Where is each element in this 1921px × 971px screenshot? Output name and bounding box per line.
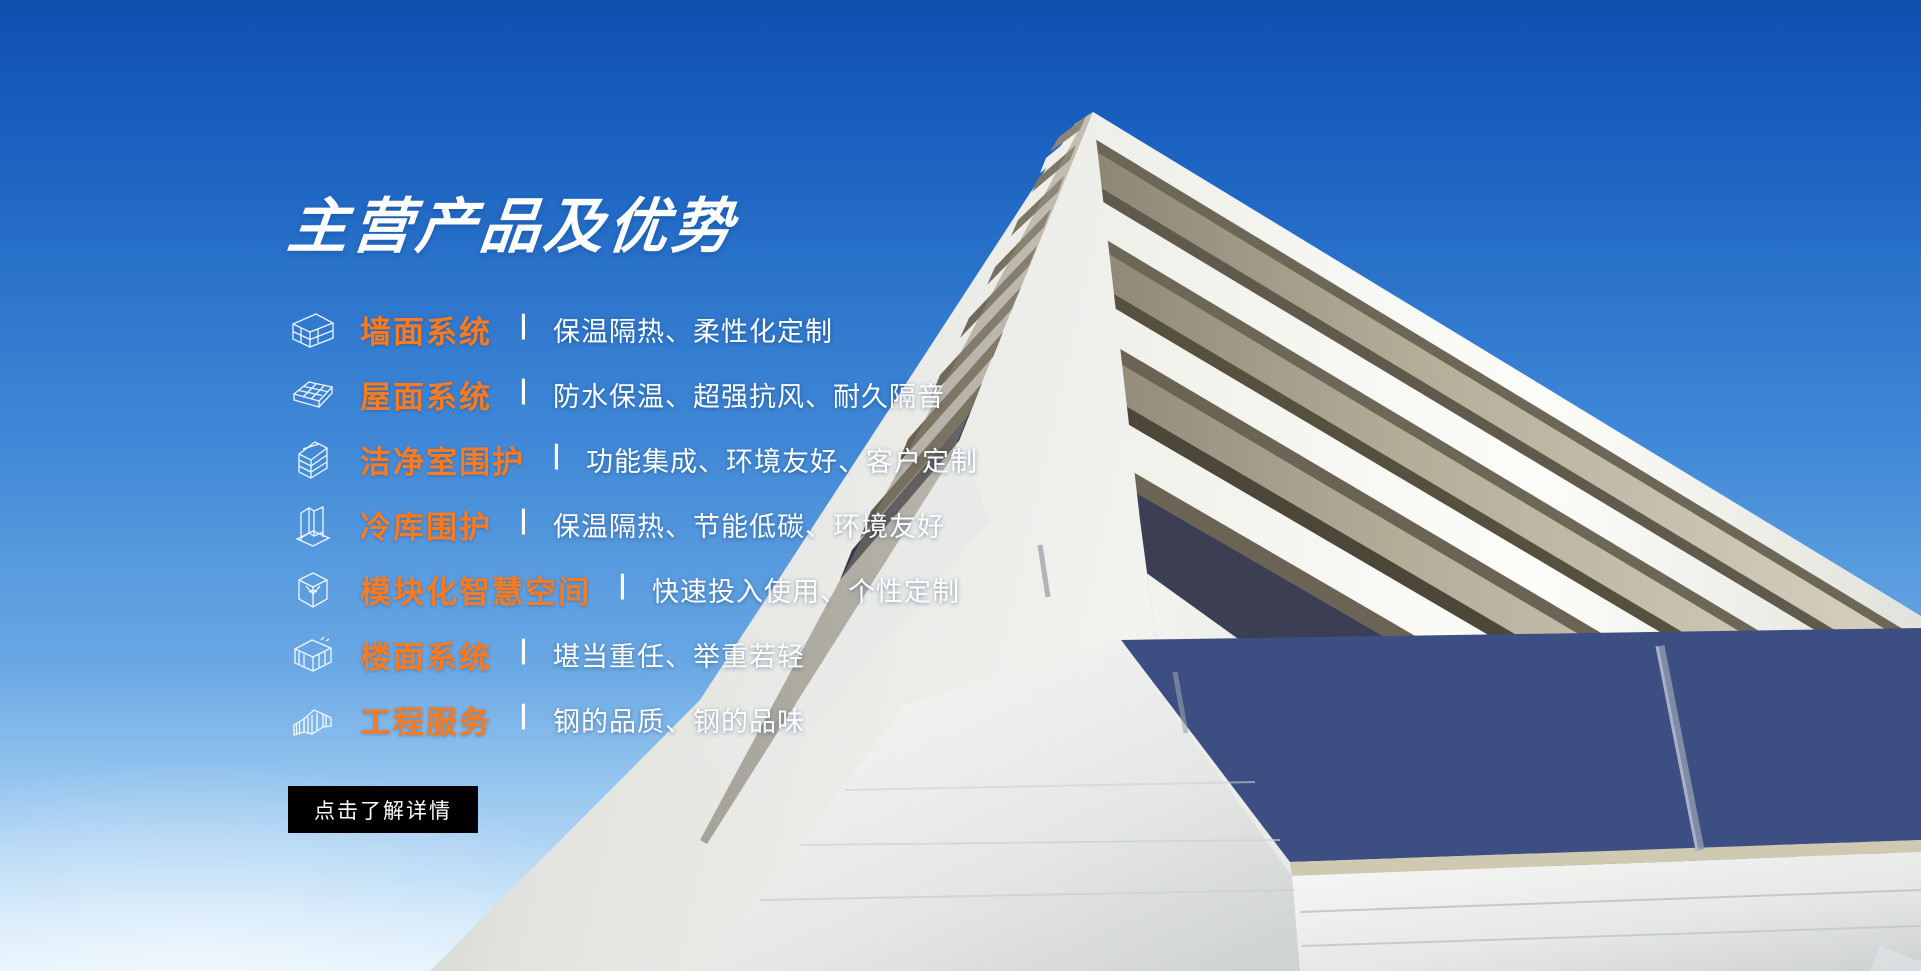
list-item[interactable]: 楼面系统 丨 堪当重任、举重若轻 [288, 622, 1268, 687]
page-title: 主营产品及优势 [285, 196, 1272, 259]
separator: 丨 [510, 510, 537, 537]
product-advantage-banner: 主营产品及优势 墙面系统 丨 保温隔热、柔性化定制 [0, 0, 1921, 971]
list-item[interactable]: 洁净室围护 丨 功能集成、环境友好、客户定制 [288, 427, 1268, 492]
product-name: 工程服务 [360, 697, 492, 742]
wall-panel-icon [288, 305, 338, 355]
product-desc: 保温隔热、柔性化定制 [553, 310, 833, 349]
floor-module-icon [288, 630, 338, 680]
separator: 丨 [510, 640, 537, 667]
product-list: 墙面系统 丨 保温隔热、柔性化定制 屋面系统 丨 防水保温、超强抗风、耐久隔音 [288, 297, 1268, 752]
product-desc: 保温隔热、节能低碳、环境友好 [553, 505, 945, 544]
product-name: 模块化智慧空间 [360, 567, 591, 612]
product-desc: 堪当重任、举重若轻 [553, 635, 805, 674]
list-item[interactable]: 屋面系统 丨 防水保温、超强抗风、耐久隔音 [288, 362, 1268, 427]
engineering-service-icon [288, 695, 338, 745]
separator: 丨 [510, 705, 537, 732]
roof-panel-icon [288, 370, 338, 420]
learn-more-button[interactable]: 点击了解详情 [288, 786, 478, 833]
product-desc: 防水保温、超强抗风、耐久隔音 [553, 375, 945, 414]
cold-storage-icon [288, 500, 338, 550]
list-item[interactable]: 冷库围护 丨 保温隔热、节能低碳、环境友好 [288, 492, 1268, 557]
list-item[interactable]: 模块化智慧空间 丨 快速投入使用、个性定制 [288, 557, 1268, 622]
modular-cube-icon [288, 565, 338, 615]
product-desc: 快速投入使用、个性定制 [652, 570, 960, 609]
list-item[interactable]: 工程服务 丨 钢的品质、钢的品味 [288, 687, 1268, 752]
product-name: 墙面系统 [360, 307, 492, 352]
product-desc: 功能集成、环境友好、客户定制 [586, 440, 978, 479]
product-name: 洁净室围护 [360, 437, 525, 482]
separator: 丨 [543, 445, 570, 472]
product-name: 冷库围护 [360, 502, 492, 547]
separator: 丨 [609, 575, 636, 602]
product-desc: 钢的品质、钢的品味 [553, 700, 805, 739]
separator: 丨 [510, 380, 537, 407]
separator: 丨 [510, 315, 537, 342]
cleanroom-building-icon [288, 435, 338, 485]
product-name: 楼面系统 [360, 632, 492, 677]
banner-content: 主营产品及优势 墙面系统 丨 保温隔热、柔性化定制 [288, 196, 1268, 833]
product-name: 屋面系统 [360, 372, 492, 417]
list-item[interactable]: 墙面系统 丨 保温隔热、柔性化定制 [288, 297, 1268, 362]
